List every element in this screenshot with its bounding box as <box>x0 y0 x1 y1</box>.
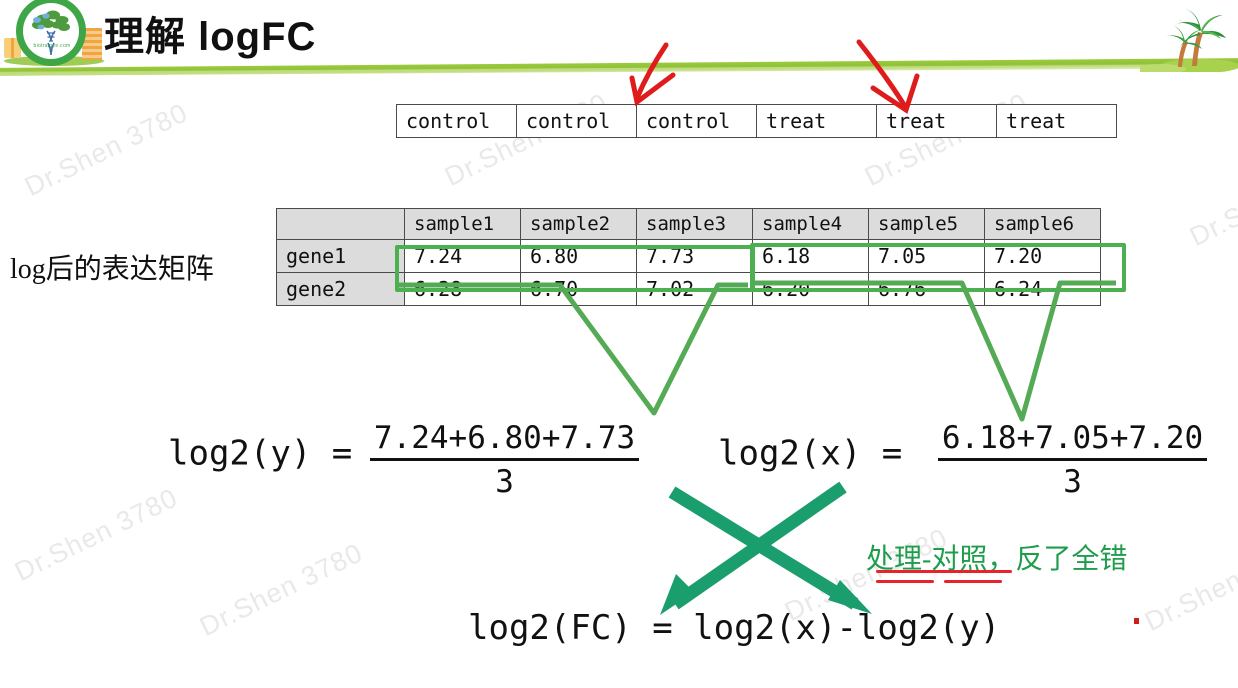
matrix-corner-cell <box>277 209 405 240</box>
watermark-text: Dr.Shen 3780 <box>1185 147 1238 253</box>
formula-log2-x-numerator: 6.18+7.05+7.20 <box>938 420 1207 461</box>
group-cell-2[interactable]: control <box>517 105 637 138</box>
cell-gene2-sample6[interactable]: 6.24 <box>985 273 1101 306</box>
table-header-row: sample1 sample2 sample3 sample4 sample5 … <box>277 209 1101 240</box>
table-row: gene1 7.24 6.80 7.73 6.18 7.05 7.20 <box>277 240 1101 273</box>
page-title: 理解 logFC <box>104 4 316 62</box>
formula-log2-x-fraction: 6.18+7.05+7.20 3 <box>938 420 1207 500</box>
group-cell-6[interactable]: treat <box>997 105 1117 138</box>
cell-gene1-sample6[interactable]: 7.20 <box>985 240 1101 273</box>
cell-gene1-sample4[interactable]: 6.18 <box>753 240 869 273</box>
column-header-sample5: sample5 <box>869 209 985 240</box>
red-arrow-right <box>859 42 917 110</box>
formula-log2-x: log2(x) = 6.18+7.05+7.20 3 <box>718 420 1207 500</box>
formula-log2-y: log2(y) = 7.24+6.80+7.73 3 <box>168 420 639 500</box>
cell-gene2-sample3[interactable]: 7.02 <box>637 273 753 306</box>
cell-gene2-sample5[interactable]: 6.76 <box>869 273 985 306</box>
watermark-text: Dr.Shen 3780 <box>195 537 368 643</box>
note-underline-3 <box>944 580 1002 583</box>
cell-gene1-sample5[interactable]: 7.05 <box>869 240 985 273</box>
red-arrow-left <box>632 45 673 102</box>
expression-matrix-table: sample1 sample2 sample3 sample4 sample5 … <box>276 208 1101 306</box>
cell-gene1-sample3[interactable]: 7.73 <box>637 240 753 273</box>
palm-tree-decoration <box>1140 0 1238 72</box>
slide-root: Dr.Shen 3780Dr.Shen 3780Dr.Shen 3780Dr.S… <box>0 0 1238 688</box>
watermark-text: Dr.Shen 3780 <box>20 97 193 203</box>
cell-gene1-sample1[interactable]: 7.24 <box>405 240 521 273</box>
cell-gene2-sample2[interactable]: 6.70 <box>521 273 637 306</box>
note-underline-2 <box>876 580 934 583</box>
column-header-sample1: sample1 <box>405 209 521 240</box>
group-cell-4[interactable]: treat <box>757 105 877 138</box>
watermark-text: Dr.Shen 3780 <box>1140 532 1238 638</box>
row-header-gene2: gene2 <box>277 273 405 306</box>
logo-inner-circle <box>23 3 79 59</box>
tree-dna-logo: biotrainee.com <box>4 0 100 70</box>
cell-gene1-sample2[interactable]: 6.80 <box>521 240 637 273</box>
column-header-sample3: sample3 <box>637 209 753 240</box>
formula-log2-y-numerator: 7.24+6.80+7.73 <box>370 420 639 461</box>
sample-group-table: control control control treat treat trea… <box>396 104 1117 138</box>
matrix-caption: log后的表达矩阵 <box>10 247 214 287</box>
formula-log2-x-label: log2(x) = <box>718 434 902 474</box>
column-header-sample4: sample4 <box>753 209 869 240</box>
red-dot-marker <box>1134 618 1139 624</box>
formula-log2-y-label: log2(y) = <box>168 434 352 474</box>
column-header-sample2: sample2 <box>521 209 637 240</box>
group-cell-3[interactable]: control <box>637 105 757 138</box>
table-row: gene2 6.28 6.70 7.02 6.20 6.76 6.24 <box>277 273 1101 306</box>
table-row: control control control treat treat trea… <box>397 105 1117 138</box>
teal-cross-arrow-down-right <box>672 492 872 614</box>
cell-gene2-sample4[interactable]: 6.20 <box>753 273 869 306</box>
formula-log2-y-fraction: 7.24+6.80+7.73 3 <box>370 420 639 500</box>
formula-log2-fc: log2(FC) = log2(x)-log2(y) <box>468 608 1000 648</box>
group-cell-5[interactable]: treat <box>877 105 997 138</box>
formula-log2-x-denominator: 3 <box>938 461 1207 500</box>
column-header-sample6: sample6 <box>985 209 1101 240</box>
watermark-text: Dr.Shen 3780 <box>10 482 183 588</box>
cell-gene2-sample1[interactable]: 6.28 <box>405 273 521 306</box>
formula-log2-y-denominator: 3 <box>370 461 639 500</box>
teal-cross-arrow-down-left <box>660 487 843 615</box>
logo-caption: biotrainee.com <box>30 43 74 49</box>
group-cell-1[interactable]: control <box>397 105 517 138</box>
row-header-gene1: gene1 <box>277 240 405 273</box>
note-underline-1 <box>876 570 1012 573</box>
